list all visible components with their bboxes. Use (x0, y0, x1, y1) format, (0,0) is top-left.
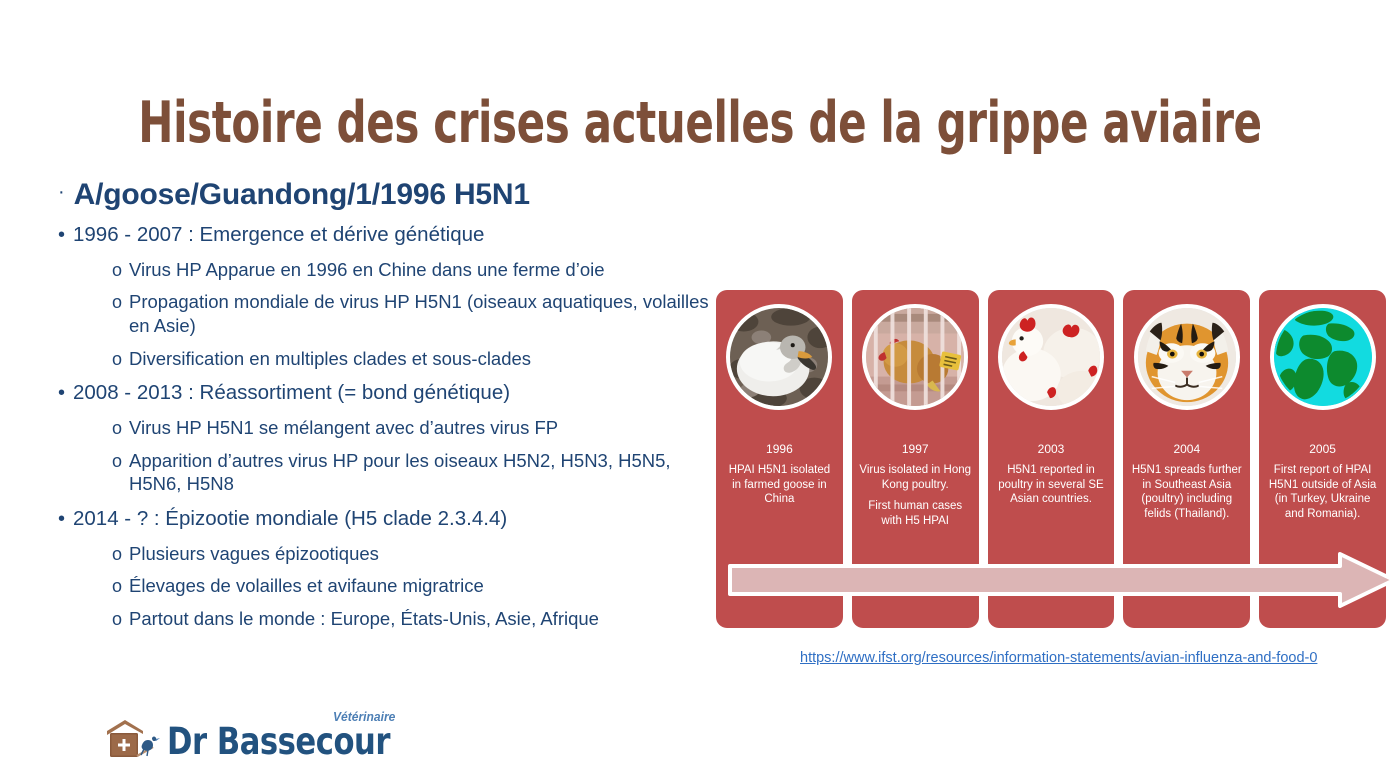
panel-line: First report of HPAI H5N1 outside of Asi… (1266, 463, 1379, 521)
white-chickens-photo (998, 304, 1104, 410)
list-item: o Plusieurs vagues épizootiques (112, 542, 718, 566)
list-item: o Propagation mondiale de virus HP H5N1 … (112, 290, 718, 337)
panel-line: H5N1 spreads further in Southeast Asia (… (1130, 463, 1243, 521)
panel-line: HPAI H5N1 isolated in farmed goose in Ch… (723, 463, 836, 507)
page-title: Histoire des crises actuelles de la grip… (126, 94, 1274, 154)
sub-bullet-icon: o (112, 545, 122, 563)
timeline-infographic: 1996 HPAI H5N1 isolated in farmed goose … (716, 290, 1386, 628)
list-item-text: Élevages de volailles et avifaune migrat… (129, 574, 718, 598)
outline-heading-text: 2008 - 2013 : Réassortiment (= bond géné… (73, 380, 718, 407)
timeline-panel-1996: 1996 HPAI H5N1 isolated in farmed goose … (716, 290, 843, 628)
list-item: o Virus HP H5N1 se mélangent avec d’autr… (112, 416, 718, 440)
logo-tagline: Vétérinaire (333, 711, 395, 724)
logo-name: Dr Bassecour (167, 720, 390, 763)
panel-line: First human cases with H5 HPAI (859, 499, 972, 528)
logo: Dr Bassecour Vétérinaire (103, 714, 409, 760)
list-item-text: Partout dans le monde : Europe, États-Un… (129, 607, 718, 631)
list-item: o Diversification en multiples clades et… (112, 347, 718, 371)
globe-icon (1270, 304, 1376, 410)
bullet-icon: • (58, 509, 69, 529)
timeline-panel-2004: 2004 H5N1 spreads further in Southeast A… (1123, 290, 1250, 628)
panel-year: 1997 (859, 442, 972, 457)
list-item-text: Virus HP Apparue en 1996 en Chine dans u… (129, 258, 718, 282)
sub-bullet-icon: o (112, 293, 122, 311)
source-url-link[interactable]: https://www.ifst.org/resources/informati… (800, 648, 1370, 669)
panel-body: 1996 HPAI H5N1 isolated in farmed goose … (716, 442, 843, 507)
list-item-text: Apparition d’autres virus HP pour les oi… (129, 449, 718, 496)
outline-content: · A/goose/Guandong/1/1996 H5N1 • 1996 - … (58, 178, 718, 631)
timeline-panel-2005: 2005 First report of HPAI H5N1 outside o… (1259, 290, 1386, 628)
bullet-icon: • (58, 225, 69, 245)
panel-year: 2005 (1266, 442, 1379, 457)
sub-bullet-icon: o (112, 452, 122, 470)
timeline-panel-list: 1996 HPAI H5N1 isolated in farmed goose … (716, 290, 1386, 628)
panel-year: 1996 (723, 442, 836, 457)
timeline-panel-2003: 2003 H5N1 reported in poultry in several… (988, 290, 1115, 628)
slide-canvas: Histoire des crises actuelles de la grip… (0, 0, 1400, 778)
list-item-text: Propagation mondiale de virus HP H5N1 (o… (129, 290, 718, 337)
outline-heading-1: • 1996 - 2007 : Emergence et dérive géné… (58, 222, 718, 249)
outline-heading-3: • 2014 - ? : Épizootie mondiale (H5 clad… (58, 506, 718, 533)
sub-bullet-icon: o (112, 261, 122, 279)
panel-year: 2003 (995, 442, 1108, 457)
panel-body: 1997 Virus isolated in Hong Kong poultry… (852, 442, 979, 529)
sub-bullet-icon: o (112, 610, 122, 628)
henhouse-icon (103, 718, 161, 760)
bullet-icon: • (58, 383, 69, 403)
caged-chicken-photo (862, 304, 968, 410)
timeline-panel-1997: 1997 Virus isolated in Hong Kong poultry… (852, 290, 979, 628)
goose-photo (726, 304, 832, 410)
list-item: o Apparition d’autres virus HP pour les … (112, 449, 718, 496)
outline-block-2: • 2008 - 2013 : Réassortiment (= bond gé… (58, 380, 718, 496)
subtitle-text: A/goose/Guandong/1/1996 H5N1 (74, 178, 530, 212)
panel-body: 2005 First report of HPAI H5N1 outside o… (1259, 442, 1386, 522)
sub-bullet-icon: o (112, 419, 122, 437)
list-item-text: Diversification en multiples clades et s… (129, 347, 718, 371)
panel-body: 2003 H5N1 reported in poultry in several… (988, 442, 1115, 507)
sub-bullet-icon: o (112, 577, 122, 595)
logo-wordmark: Dr Bassecour Vétérinaire (167, 723, 390, 760)
panel-year: 2004 (1130, 442, 1243, 457)
outline-block-3: • 2014 - ? : Épizootie mondiale (H5 clad… (58, 506, 718, 631)
sub-bullet-icon: o (112, 350, 122, 368)
list-item: o Élevages de volailles et avifaune migr… (112, 574, 718, 598)
outline-block-1: • 1996 - 2007 : Emergence et dérive géné… (58, 222, 718, 370)
outline-heading-2: • 2008 - 2013 : Réassortiment (= bond gé… (58, 380, 718, 407)
tiger-photo (1134, 304, 1240, 410)
list-item-text: Plusieurs vagues épizootiques (129, 542, 718, 566)
panel-line: Virus isolated in Hong Kong poultry. (859, 463, 972, 492)
subtitle-bullet-icon: · (58, 182, 65, 202)
outline-heading-text: 2014 - ? : Épizootie mondiale (H5 clade … (73, 506, 718, 533)
outline-heading-text: 1996 - 2007 : Emergence et dérive généti… (73, 222, 718, 249)
panel-body: 2004 H5N1 spreads further in Southeast A… (1123, 442, 1250, 522)
list-item: o Partout dans le monde : Europe, États-… (112, 607, 718, 631)
panel-line: H5N1 reported in poultry in several SE A… (995, 463, 1108, 507)
list-item: o Virus HP Apparue en 1996 en Chine dans… (112, 258, 718, 282)
subtitle-heading: · A/goose/Guandong/1/1996 H5N1 (58, 178, 718, 212)
list-item-text: Virus HP H5N1 se mélangent avec d’autres… (129, 416, 718, 440)
